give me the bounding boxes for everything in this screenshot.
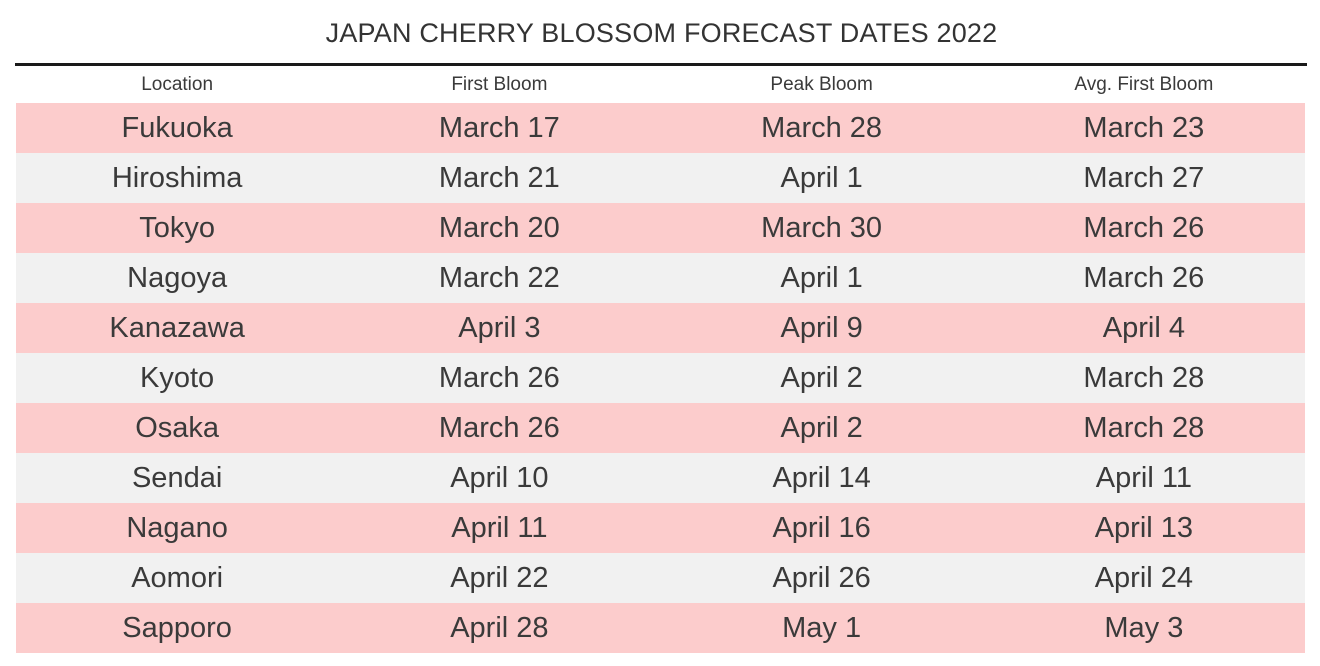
cell-avg-first-bloom: April 13	[983, 503, 1305, 553]
cell-first-bloom: April 28	[338, 603, 660, 653]
title-divider	[15, 63, 1307, 66]
table-body: FukuokaMarch 17March 28March 23Hiroshima…	[16, 103, 1305, 653]
table-header-row: Location First Bloom Peak Bloom Avg. Fir…	[16, 67, 1305, 103]
cell-first-bloom: April 11	[338, 503, 660, 553]
table-row: AomoriApril 22April 26April 24	[16, 553, 1305, 603]
column-header-peak-bloom: Peak Bloom	[661, 67, 983, 103]
cell-avg-first-bloom: April 24	[983, 553, 1305, 603]
table-row: NaganoApril 11April 16April 13	[16, 503, 1305, 553]
cell-peak-bloom: April 9	[661, 303, 983, 353]
cell-location: Nagoya	[16, 253, 338, 303]
table-row: FukuokaMarch 17March 28March 23	[16, 103, 1305, 153]
cell-first-bloom: March 20	[338, 203, 660, 253]
cell-peak-bloom: April 16	[661, 503, 983, 553]
cell-peak-bloom: March 28	[661, 103, 983, 153]
cell-avg-first-bloom: March 26	[983, 253, 1305, 303]
cell-avg-first-bloom: April 4	[983, 303, 1305, 353]
table-header: Location First Bloom Peak Bloom Avg. Fir…	[16, 67, 1305, 103]
cell-location: Kanazawa	[16, 303, 338, 353]
table-row: HiroshimaMarch 21April 1March 27	[16, 153, 1305, 203]
cell-first-bloom: March 22	[338, 253, 660, 303]
cell-location: Osaka	[16, 403, 338, 453]
cell-avg-first-bloom: March 28	[983, 403, 1305, 453]
cell-location: Sapporo	[16, 603, 338, 653]
column-header-first-bloom: First Bloom	[338, 67, 660, 103]
cell-peak-bloom: April 2	[661, 403, 983, 453]
cell-first-bloom: April 10	[338, 453, 660, 503]
cell-avg-first-bloom: March 28	[983, 353, 1305, 403]
forecast-table: Location First Bloom Peak Bloom Avg. Fir…	[16, 67, 1305, 653]
cell-first-bloom: March 17	[338, 103, 660, 153]
page-title: JAPAN CHERRY BLOSSOM FORECAST DATES 2022	[16, 18, 1307, 49]
cell-peak-bloom: March 30	[661, 203, 983, 253]
table-row: OsakaMarch 26April 2March 28	[16, 403, 1305, 453]
cell-avg-first-bloom: March 23	[983, 103, 1305, 153]
table-row: SendaiApril 10April 14April 11	[16, 453, 1305, 503]
cell-avg-first-bloom: May 3	[983, 603, 1305, 653]
cell-avg-first-bloom: March 27	[983, 153, 1305, 203]
cell-peak-bloom: May 1	[661, 603, 983, 653]
cell-location: Fukuoka	[16, 103, 338, 153]
table-row: TokyoMarch 20March 30March 26	[16, 203, 1305, 253]
cell-location: Nagano	[16, 503, 338, 553]
cell-location: Tokyo	[16, 203, 338, 253]
cell-avg-first-bloom: March 26	[983, 203, 1305, 253]
cell-first-bloom: April 3	[338, 303, 660, 353]
cell-first-bloom: March 26	[338, 403, 660, 453]
cell-peak-bloom: April 2	[661, 353, 983, 403]
table-row: KanazawaApril 3April 9April 4	[16, 303, 1305, 353]
cell-first-bloom: April 22	[338, 553, 660, 603]
cell-avg-first-bloom: April 11	[983, 453, 1305, 503]
table-row: NagoyaMarch 22April 1March 26	[16, 253, 1305, 303]
cell-location: Kyoto	[16, 353, 338, 403]
cell-peak-bloom: April 1	[661, 153, 983, 203]
cell-peak-bloom: April 26	[661, 553, 983, 603]
cell-peak-bloom: April 14	[661, 453, 983, 503]
table-row: KyotoMarch 26April 2March 28	[16, 353, 1305, 403]
cell-location: Aomori	[16, 553, 338, 603]
document-sheet: JAPAN CHERRY BLOSSOM FORECAST DATES 2022…	[0, 0, 1320, 666]
cell-location: Sendai	[16, 453, 338, 503]
column-header-location: Location	[16, 67, 338, 103]
cell-first-bloom: March 26	[338, 353, 660, 403]
cell-peak-bloom: April 1	[661, 253, 983, 303]
column-header-avg-first-bloom: Avg. First Bloom	[983, 67, 1305, 103]
cell-location: Hiroshima	[16, 153, 338, 203]
table-row: SapporoApril 28May 1May 3	[16, 603, 1305, 653]
cell-first-bloom: March 21	[338, 153, 660, 203]
